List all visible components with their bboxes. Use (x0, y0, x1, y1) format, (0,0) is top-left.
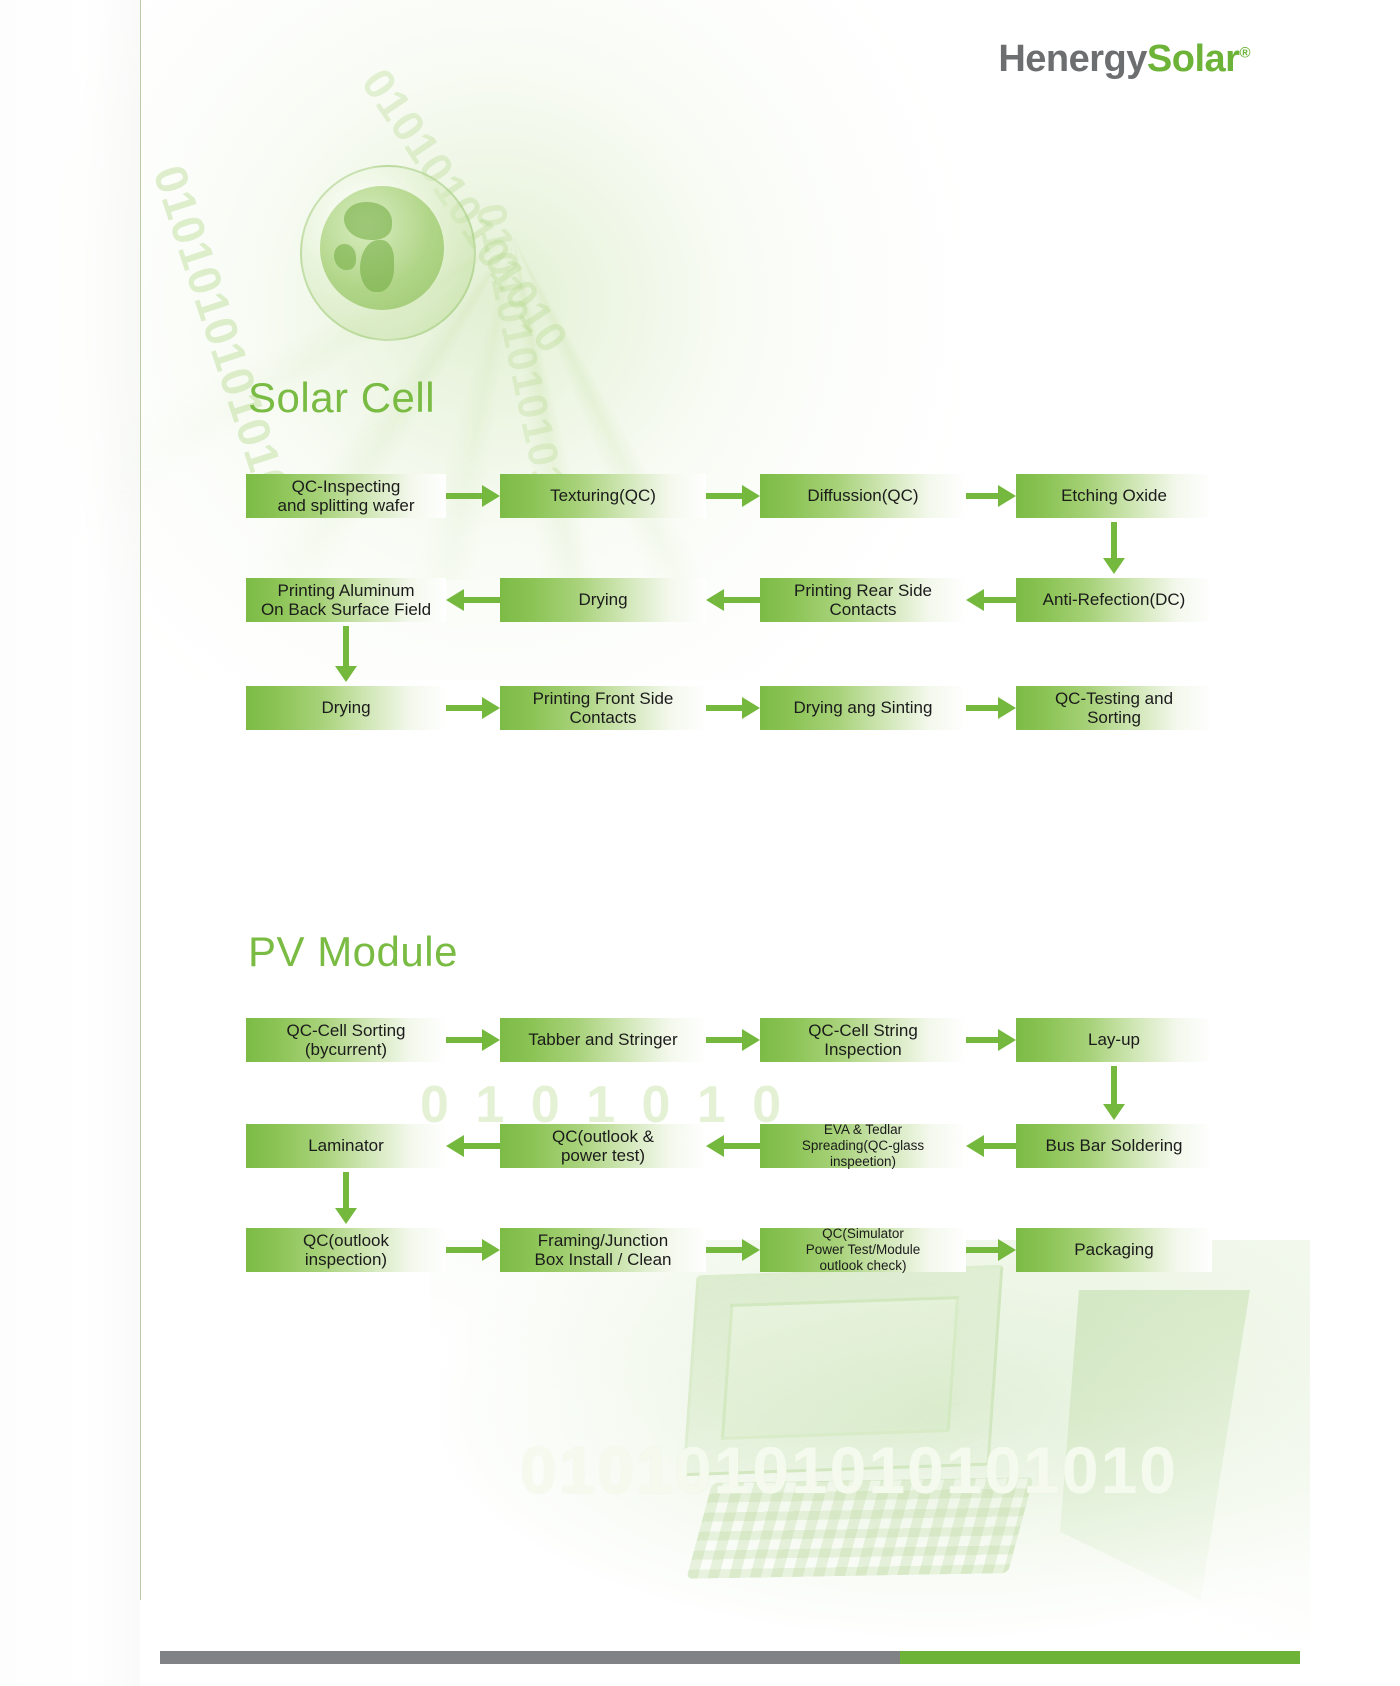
arrow-left-icon (706, 1135, 760, 1157)
arrow-down-icon (1103, 1066, 1125, 1120)
flow-step-box: Etching Oxide (1016, 474, 1212, 518)
flow-step-label-line: and splitting wafer (277, 496, 414, 515)
flow-step-label: Etching Oxide (1061, 486, 1167, 505)
flow-step-label: QC-Cell StringInspection (808, 1021, 918, 1059)
flow-step-label-line: Framing/Junction (538, 1231, 668, 1250)
flow-step-label-line: Inspection (824, 1040, 902, 1059)
flow-step-label: Bus Bar Soldering (1045, 1136, 1182, 1155)
flow-step-label-line: QC-Inspecting (292, 477, 401, 496)
flow-step-box: Anti-Refection(DC) (1016, 578, 1212, 622)
flow-step-label-line: Printing Rear Side (794, 581, 932, 600)
watermark-digits-bottom: 01010101010101010 (520, 1432, 1178, 1508)
flow-step-label-line: Drying ang Sinting (794, 698, 933, 717)
flow-step-label: EVA & TedlarSpreading(QC-glassinspeetion… (802, 1122, 924, 1170)
flow-step-label-line: QC-Cell Sorting (286, 1021, 405, 1040)
watermark-digit-run: 0101010101010 (146, 160, 297, 503)
flow-step-label-line: inspection) (305, 1250, 387, 1269)
watermark-digit-run: 0101010101010 (469, 200, 576, 518)
flow-step-label: Packaging (1074, 1240, 1153, 1259)
flow-step-label: Diffussion(QC) (807, 486, 918, 505)
arrow-right-icon (446, 697, 500, 719)
flow-step-box: Laminator (246, 1124, 446, 1168)
flow-step-label-line: Contacts (569, 708, 636, 727)
flow-step-box: Printing AluminumOn Back Surface Field (246, 578, 446, 622)
flow-step-label: QC(outlook &power test) (552, 1127, 654, 1165)
flow-step-label-line: Anti-Refection(DC) (1043, 590, 1186, 609)
arrow-right-icon (446, 485, 500, 507)
flow-step-label: Framing/JunctionBox Install / Clean (534, 1231, 671, 1269)
flow-step-label-line: Packaging (1074, 1240, 1153, 1259)
arrow-right-icon (706, 1029, 760, 1051)
flow-step-box: EVA & TedlarSpreading(QC-glassinspeetion… (760, 1124, 966, 1168)
flow-step-box: Drying (500, 578, 706, 622)
flow-step-label-line: Laminator (308, 1136, 384, 1155)
flow-step-box: Tabber and Stringer (500, 1018, 706, 1062)
flow-step-label-line: Tabber and Stringer (528, 1030, 677, 1049)
flow-step-label-line: Contacts (829, 600, 896, 619)
flow-step-label: QC-Cell Sorting(bycurrent) (286, 1021, 405, 1059)
flow-step-label: Printing AluminumOn Back Surface Field (261, 581, 431, 619)
arrow-left-icon (446, 589, 500, 611)
flow-step-box: Texturing(QC) (500, 474, 706, 518)
arrow-right-icon (446, 1239, 500, 1261)
flow-step-label-line: EVA & Tedlar (824, 1122, 902, 1137)
flow-step-label: Texturing(QC) (550, 486, 656, 505)
flow-step-label: QC(outlookinspection) (303, 1231, 389, 1269)
globe-landmass (334, 244, 356, 270)
brand-logo: HenergySolar® (998, 38, 1250, 81)
arrow-left-icon (706, 589, 760, 611)
flow-step-label-line: QC(Simulator (822, 1226, 904, 1241)
flow-step-box: Lay-up (1016, 1018, 1212, 1062)
flow-step-box: Printing Front SideContacts (500, 686, 706, 730)
brand-name-secondary: Solar (1147, 38, 1240, 80)
globe-landmass (344, 202, 392, 240)
brand-name-primary: Henergy (998, 38, 1147, 80)
flow-step-label-line: On Back Surface Field (261, 600, 431, 619)
arrow-right-icon (966, 485, 1016, 507)
flow-step-label: QC(SimulatorPower Test/Moduleoutlook che… (806, 1226, 921, 1274)
flow-step-box: Drying ang Sinting (760, 686, 966, 730)
arrow-down-icon (335, 1172, 357, 1224)
arrow-right-icon (706, 485, 760, 507)
flow-step-box: Framing/JunctionBox Install / Clean (500, 1228, 706, 1272)
flow-step-label: Drying (321, 698, 370, 717)
flow-step-box: QC-Testing andSorting (1016, 686, 1212, 730)
background-photo-monitor-inner (721, 1296, 959, 1440)
flow-step-label-line: Etching Oxide (1061, 486, 1167, 505)
flow-step-label: Lay-up (1088, 1030, 1140, 1049)
flow-step-label: Printing Front SideContacts (533, 689, 674, 727)
flow-step-box: Printing Rear SideContacts (760, 578, 966, 622)
flow-step-label-line: Sorting (1087, 708, 1141, 727)
arrow-down-icon (335, 626, 357, 682)
section-title-solar-cell: Solar Cell (248, 374, 435, 422)
section-title-pv-module: PV Module (248, 928, 458, 976)
flow-step-label-line: Power Test/Module (806, 1242, 921, 1257)
flow-step-box: QC(outlook &power test) (500, 1124, 706, 1168)
flow-step-box: QC-Cell StringInspection (760, 1018, 966, 1062)
arrow-right-icon (966, 1239, 1016, 1261)
arrow-right-icon (966, 697, 1016, 719)
flow-step-box: Bus Bar Soldering (1016, 1124, 1212, 1168)
arrow-right-icon (706, 1239, 760, 1261)
flow-step-label: Anti-Refection(DC) (1043, 590, 1186, 609)
arrow-left-icon (446, 1135, 500, 1157)
left-margin-rule (140, 0, 141, 1600)
flow-step-box: Packaging (1016, 1228, 1212, 1272)
flow-step-label-line: Texturing(QC) (550, 486, 656, 505)
arrow-down-icon (1103, 522, 1125, 574)
flow-step-label: Tabber and Stringer (528, 1030, 677, 1049)
flow-step-label-line: Lay-up (1088, 1030, 1140, 1049)
flow-step-label-line: QC(outlook & (552, 1127, 654, 1146)
flow-step-label-line: Diffussion(QC) (807, 486, 918, 505)
left-margin-band (0, 0, 140, 1686)
flow-step-label-line: Printing Aluminum (277, 581, 414, 600)
flow-step-label-line: QC-Testing and (1055, 689, 1173, 708)
flow-step-box: QC-Cell Sorting(bycurrent) (246, 1018, 446, 1062)
flow-step-label: QC-Inspectingand splitting wafer (277, 477, 414, 515)
page-root: 0101010101010 0101010101010 010101010101… (0, 0, 1400, 1686)
arrow-right-icon (966, 1029, 1016, 1051)
flow-step-label-line: QC-Cell String (808, 1021, 918, 1040)
flow-step-label-line: Box Install / Clean (534, 1250, 671, 1269)
flow-step-label-line: (bycurrent) (305, 1040, 387, 1059)
flow-step-label: Drying ang Sinting (794, 698, 933, 717)
flow-step-box: QC(SimulatorPower Test/Moduleoutlook che… (760, 1228, 966, 1272)
flow-step-label-line: Drying (578, 590, 627, 609)
arrow-left-icon (966, 1135, 1016, 1157)
flow-step-label-line: outlook check) (819, 1258, 906, 1273)
flow-step-label-line: Spreading(QC-glass (802, 1138, 924, 1153)
flow-step-box: QC(outlookinspection) (246, 1228, 446, 1272)
flow-step-label: QC-Testing andSorting (1055, 689, 1173, 727)
footer-bar-green (900, 1651, 1300, 1664)
arrow-right-icon (706, 697, 760, 719)
globe-icon (320, 186, 444, 310)
flow-step-box: QC-Inspectingand splitting wafer (246, 474, 446, 518)
flow-step-label-line: Bus Bar Soldering (1045, 1136, 1182, 1155)
flow-step-label-line: QC(outlook (303, 1231, 389, 1250)
flow-step-box: Diffussion(QC) (760, 474, 966, 518)
flow-step-label: Laminator (308, 1136, 384, 1155)
flow-step-label: Printing Rear SideContacts (794, 581, 932, 619)
flow-step-label: Drying (578, 590, 627, 609)
flow-step-label-line: Printing Front Side (533, 689, 674, 708)
flow-step-box: Drying (246, 686, 446, 730)
arrow-left-icon (966, 589, 1016, 611)
footer-bar-gray (160, 1651, 900, 1664)
arrow-right-icon (446, 1029, 500, 1051)
flow-step-label-line: inspeetion) (830, 1154, 896, 1169)
flow-step-label-line: power test) (561, 1146, 645, 1165)
registered-trademark-icon: ® (1239, 44, 1250, 61)
flow-step-label-line: Drying (321, 698, 370, 717)
globe-landmass (360, 240, 394, 292)
